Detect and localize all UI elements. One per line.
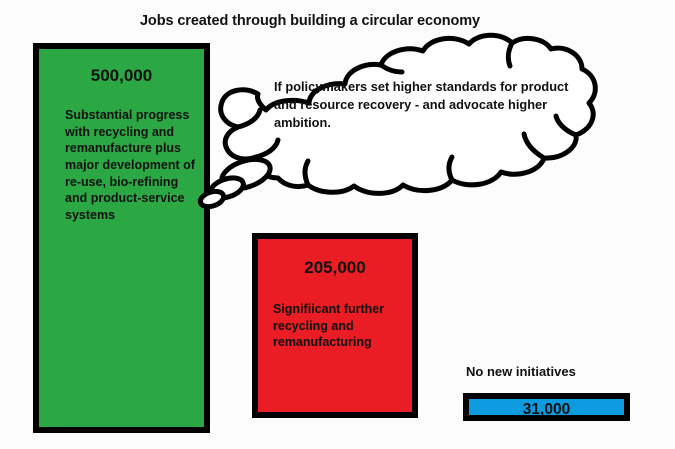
- bar-blue-value: 31,000: [469, 401, 624, 419]
- bubble-notch-left-lower: [256, 140, 278, 157]
- chart-title: Jobs created through building a circular…: [0, 13, 620, 29]
- bubble-notch-bottom-mid: [449, 157, 452, 180]
- bar-red: 205,000 Signifiicant further recycling a…: [252, 233, 418, 418]
- bar-red-value: 205,000: [258, 258, 412, 278]
- bar-blue: 31,000: [463, 393, 630, 421]
- bubble-notch-bottom-left: [305, 161, 308, 185]
- chart-canvas: Jobs created through building a circular…: [0, 0, 675, 449]
- thought-bubble-text: If policymakers set higher standards for…: [274, 78, 576, 132]
- bar-green: 500,000 Substantial progress with recycl…: [33, 43, 210, 433]
- bubble-tail-large: [218, 154, 274, 194]
- bar-blue-caption: No new initiatives: [466, 364, 576, 379]
- bubble-notch-top-left: [381, 65, 402, 72]
- bubble-notch-top-right: [508, 43, 512, 66]
- bar-green-description: Substantial progress with recycling and …: [65, 107, 195, 223]
- bubble-notch-right-lower: [524, 134, 544, 158]
- bar-green-value: 500,000: [39, 66, 204, 86]
- bar-red-description: Signifiicant further recycling and reman…: [273, 301, 419, 351]
- bubble-tail-medium: [208, 174, 246, 202]
- bubble-notch-left-upper: [238, 110, 260, 127]
